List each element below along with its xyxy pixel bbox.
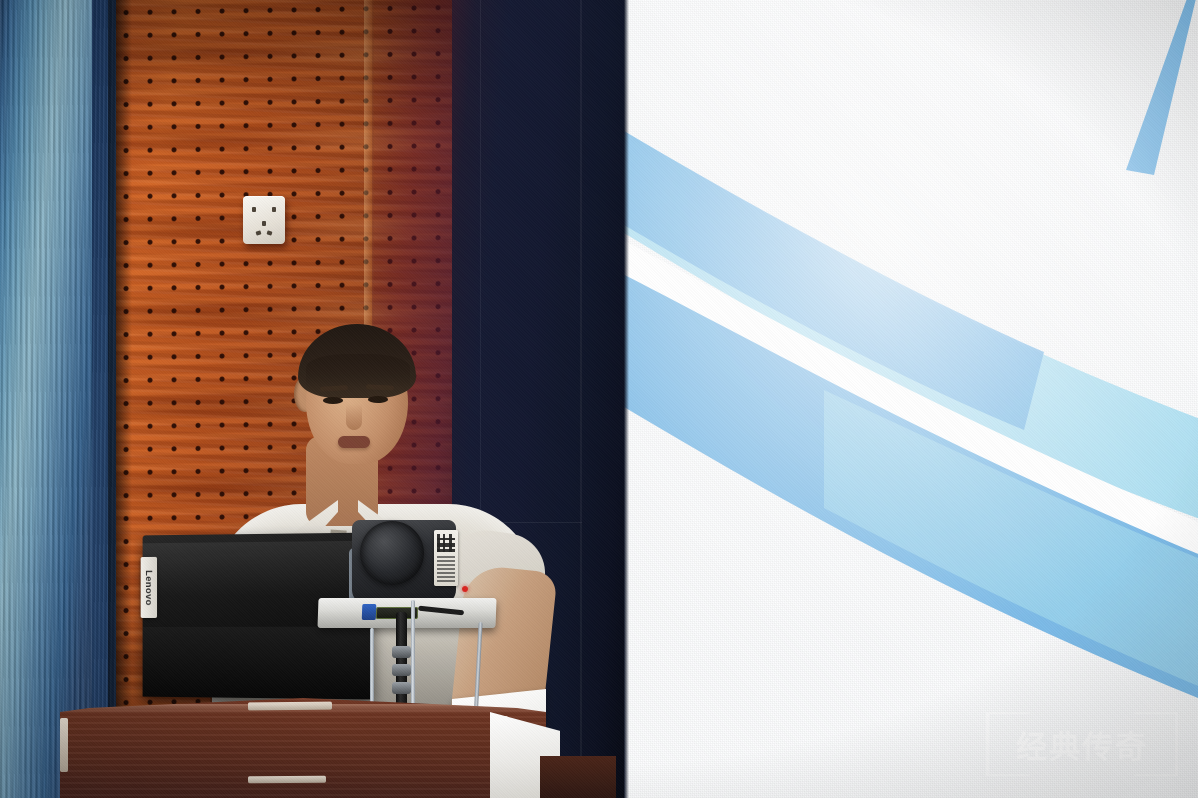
camera-lens-icon	[360, 521, 424, 585]
speaker-mouth	[338, 436, 370, 448]
lenovo-brand-label: Lenovo	[141, 557, 157, 618]
photo-scene: 经典传奇 Lenovo	[0, 0, 1198, 798]
camera-led-indicator	[462, 586, 468, 592]
speaker-hair	[298, 324, 416, 398]
podium-lectern	[60, 698, 546, 798]
podium-wear-mark-bottom	[248, 776, 326, 784]
usb-port	[362, 604, 377, 620]
speaker-eye-left	[323, 397, 343, 404]
lenovo-brand-text: Lenovo	[144, 570, 155, 606]
podium-edge-left	[60, 718, 68, 772]
watermark: 经典传奇	[986, 712, 1178, 776]
projection-screen: 经典传奇	[624, 0, 1198, 798]
speaker-nose	[346, 404, 362, 430]
qr-code-sticker	[434, 530, 458, 586]
camera-mount-shelf	[317, 598, 496, 628]
power-outlet-icon	[243, 196, 285, 244]
screen-light-glow	[624, 0, 1198, 798]
podium-base-shadow	[540, 756, 616, 798]
speaker-eye-right	[368, 396, 388, 403]
camera-cable	[418, 606, 464, 616]
screen-left-edge	[624, 0, 629, 798]
watermark-text: 经典传奇	[1016, 722, 1148, 767]
podium-wear-mark-top	[248, 702, 332, 711]
curtain-left-outer	[0, 0, 98, 798]
